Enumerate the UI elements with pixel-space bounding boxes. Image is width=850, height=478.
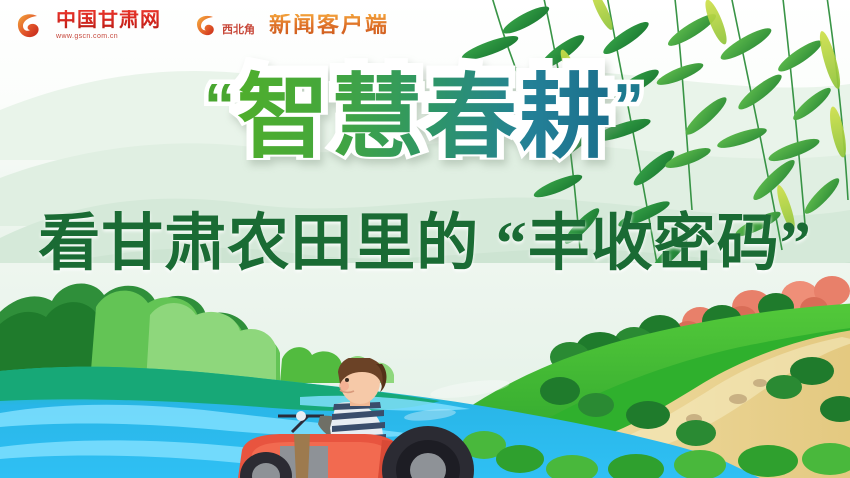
tractor-exhaust xyxy=(294,434,310,478)
gansu-net-wordmark[interactable]: 中国甘肃网 www.gscn.com.cn xyxy=(56,10,161,40)
headline-main-wrap: “智慧春耕智慧春耕” xyxy=(0,72,850,164)
farmer-eye xyxy=(345,378,349,382)
tractor-wheel xyxy=(382,426,474,478)
gansu-net-swoosh-logo-icon[interactable] xyxy=(16,11,42,39)
quote-open-mark: “ xyxy=(204,72,237,141)
poster-canvas: 中国甘肃网 www.gscn.com.cn 西北角 新闻客户端 “智慧春耕智慧春… xyxy=(0,0,850,478)
gansu-net-url: www.gscn.com.cn xyxy=(56,33,161,40)
main-title-text: 智慧春耕智慧春耕 xyxy=(237,67,613,169)
news-client-wordmark[interactable]: 新闻客户端 xyxy=(269,14,389,36)
northwest-corner-swoosh-logo-icon[interactable]: 西北角 xyxy=(195,13,255,37)
gansu-net-name: 中国甘肃网 xyxy=(56,10,161,30)
farmer-on-red-tractor xyxy=(232,358,482,478)
steering-hub xyxy=(296,411,306,421)
quote-close-mark: ” xyxy=(613,72,646,141)
subtitle: 看甘肃农田里的 “丰收密码” xyxy=(38,212,812,277)
northwest-corner-stamp: 西北角 xyxy=(222,25,255,37)
main-title: “智慧春耕智慧春耕” xyxy=(204,72,646,164)
branding-bar: 中国甘肃网 www.gscn.com.cn 西北角 新闻客户端 xyxy=(16,10,389,40)
headline-sub-wrap: 看甘肃农田里的 “丰收密码” xyxy=(0,212,850,277)
main-title-fill: 智慧春耕 xyxy=(237,67,613,169)
